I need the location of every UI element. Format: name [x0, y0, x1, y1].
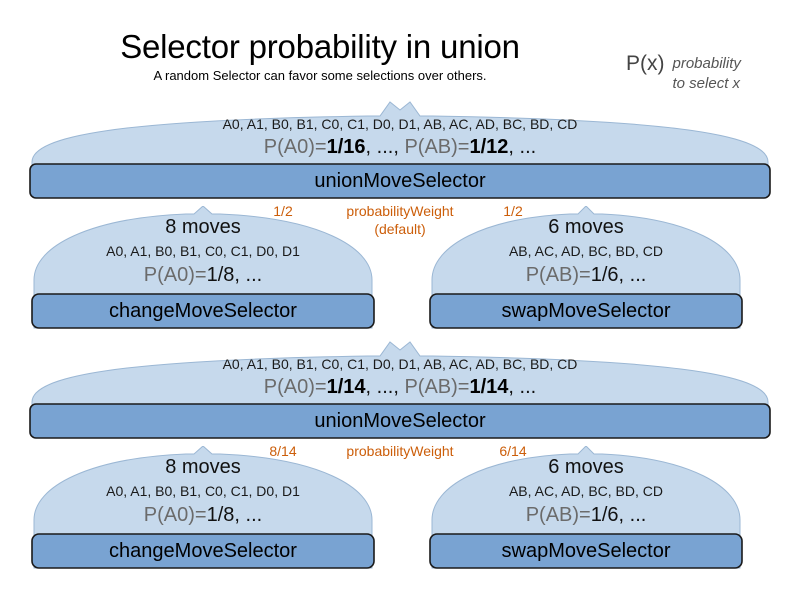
swap-move-selector-node-1-moves-list: AB, AC, AD, BC, BD, CD	[428, 242, 744, 260]
union-node-2-prob-a-value: 1/14	[327, 376, 366, 398]
union-node-2-prob-separator: , ...,	[366, 376, 405, 398]
change-move-selector-node-1-probability: P(A0)=1/8, ...	[30, 263, 376, 287]
change-move-selector-node-2[interactable]: 8 moves A0, A1, B0, B1, C0, C1, D0, D1 P…	[30, 446, 376, 572]
union-node-2-prob-a-label: P(A0)=	[264, 376, 327, 398]
change-move-selector-node-1-moves-list: A0, A1, B0, B1, C0, C1, D0, D1	[30, 242, 376, 260]
change-move-selector-node-2-probability: P(A0)=1/8, ...	[30, 503, 376, 527]
union-node-1-prob-b-value: 1/12	[469, 136, 508, 158]
union-node-1-prob-separator: , ...,	[366, 136, 405, 158]
change-move-selector-node-1-prob-label: P(A0)=	[144, 264, 207, 286]
legend: P(x) probability to select x	[626, 52, 800, 94]
union-node-1[interactable]: A0, A1, B0, B1, C0, C1, D0, D1, AB, AC, …	[28, 96, 772, 200]
change-move-selector-node-2-prob-value: 1/8, ...	[207, 504, 263, 526]
union-node-2-bar-label: unionMoveSelector	[28, 409, 772, 433]
swap-move-selector-node-2-bar-label: swapMoveSelector	[428, 539, 744, 563]
swap-move-selector-node-1-prob-label: P(AB)=	[526, 264, 591, 286]
union-node-1-prob-a-value: 1/16	[327, 136, 366, 158]
swap-move-selector-node-1-probability: P(AB)=1/6, ...	[428, 263, 744, 287]
swap-move-selector-node-1-bar-label: swapMoveSelector	[428, 299, 744, 323]
union-node-2-prob-tail: , ...	[508, 376, 536, 398]
swap-move-selector-node-2-prob-value: 1/6, ...	[591, 504, 647, 526]
union-node-2-probabilities: P(A0)=1/14, ..., P(AB)=1/14, ...	[28, 375, 772, 399]
legend-description-line1: probability	[673, 54, 741, 74]
change-move-selector-node-1-bar-label: changeMoveSelector	[30, 299, 376, 323]
change-move-selector-node-1-prob-value: 1/8, ...	[207, 264, 263, 286]
union-node-1-prob-b-label: P(AB)=	[404, 136, 469, 158]
union-node-1-moves-list: A0, A1, B0, B1, C0, C1, D0, D1, AB, AC, …	[28, 115, 772, 133]
change-move-selector-node-2-bar-label: changeMoveSelector	[30, 539, 376, 563]
legend-key: P(x)	[626, 52, 665, 76]
union-node-2-prob-b-label: P(AB)=	[404, 376, 469, 398]
diagram-canvas: Selector probability in union A random S…	[0, 0, 800, 600]
change-move-selector-node-2-moves-count: 8 moves	[30, 455, 376, 479]
swap-move-selector-node-2-prob-label: P(AB)=	[526, 504, 591, 526]
swap-move-selector-node-1-prob-value: 1/6, ...	[591, 264, 647, 286]
page-subtitle: A random Selector can favor some selecti…	[0, 68, 640, 84]
union-node-1-probabilities: P(A0)=1/16, ..., P(AB)=1/12, ...	[28, 135, 772, 159]
change-move-selector-node-2-prob-label: P(A0)=	[144, 504, 207, 526]
union-node-2-moves-list: A0, A1, B0, B1, C0, C1, D0, D1, AB, AC, …	[28, 355, 772, 373]
swap-move-selector-node-2-moves-list: AB, AC, AD, BC, BD, CD	[428, 482, 744, 500]
swap-move-selector-node-1[interactable]: 6 moves AB, AC, AD, BC, BD, CD P(AB)=1/6…	[428, 206, 744, 332]
legend-description: probability to select x	[673, 52, 741, 94]
union-node-2[interactable]: A0, A1, B0, B1, C0, C1, D0, D1, AB, AC, …	[28, 336, 772, 440]
change-move-selector-node-1[interactable]: 8 moves A0, A1, B0, B1, C0, C1, D0, D1 P…	[30, 206, 376, 332]
swap-move-selector-node-1-moves-count: 6 moves	[428, 215, 744, 239]
change-move-selector-node-1-moves-count: 8 moves	[30, 215, 376, 239]
swap-move-selector-node-2-moves-count: 6 moves	[428, 455, 744, 479]
union-node-1-prob-a-label: P(A0)=	[264, 136, 327, 158]
page-title: Selector probability in union	[0, 28, 640, 66]
legend-description-line2: to select x	[673, 74, 741, 94]
union-node-2-prob-b-value: 1/14	[469, 376, 508, 398]
swap-move-selector-node-2-probability: P(AB)=1/6, ...	[428, 503, 744, 527]
change-move-selector-node-2-moves-list: A0, A1, B0, B1, C0, C1, D0, D1	[30, 482, 376, 500]
union-node-1-bar-label: unionMoveSelector	[28, 169, 772, 193]
swap-move-selector-node-2[interactable]: 6 moves AB, AC, AD, BC, BD, CD P(AB)=1/6…	[428, 446, 744, 572]
union-node-1-prob-tail: , ...	[508, 136, 536, 158]
